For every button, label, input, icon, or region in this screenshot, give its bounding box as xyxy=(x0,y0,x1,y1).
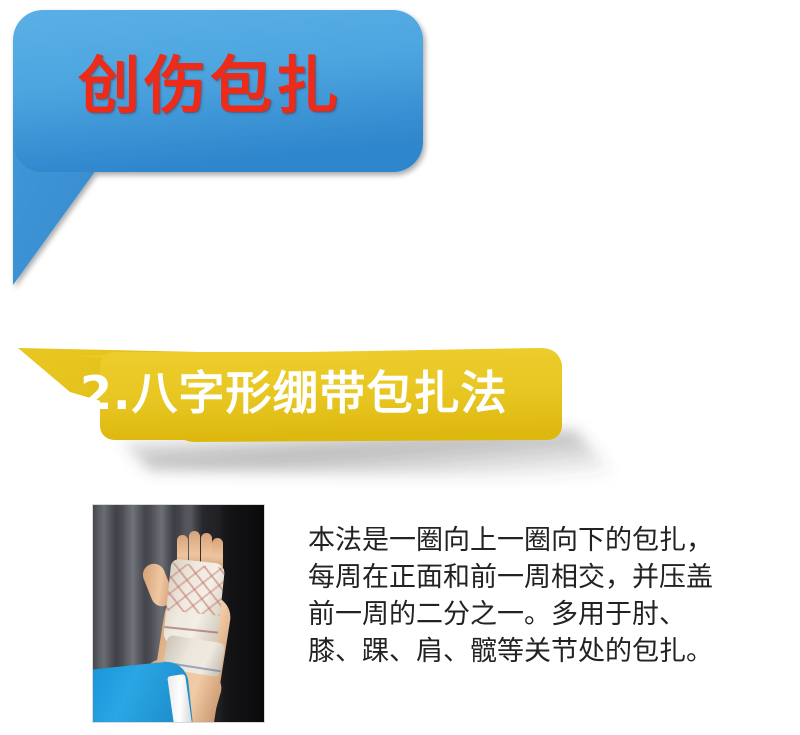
photo-content xyxy=(93,505,264,722)
description-line-1: 本法是一圈向上一圈向下的包扎， xyxy=(308,522,788,559)
section-banner: 2.八字形绷带包扎法 xyxy=(0,330,680,490)
description-line-3: 前一周的二分之一。多用于肘、 xyxy=(308,596,788,633)
section-banner-title: 2.八字形绷带包扎法 xyxy=(80,348,580,438)
header-speech-bubble: 创伤包扎 xyxy=(0,0,440,300)
illustration-photo xyxy=(92,504,265,723)
header-title: 创伤包扎 xyxy=(78,36,408,136)
description-line-4: 膝、踝、肩、髋等关节处的包扎。 xyxy=(308,633,788,670)
page-root: 创伤包扎 xyxy=(0,0,800,735)
description-line-2: 每周在正面和前一周相交，并压盖 xyxy=(308,559,788,596)
description-text: 本法是一圈向上一圈向下的包扎， 每周在正面和前一周相交，并压盖 前一周的二分之一… xyxy=(308,522,788,670)
